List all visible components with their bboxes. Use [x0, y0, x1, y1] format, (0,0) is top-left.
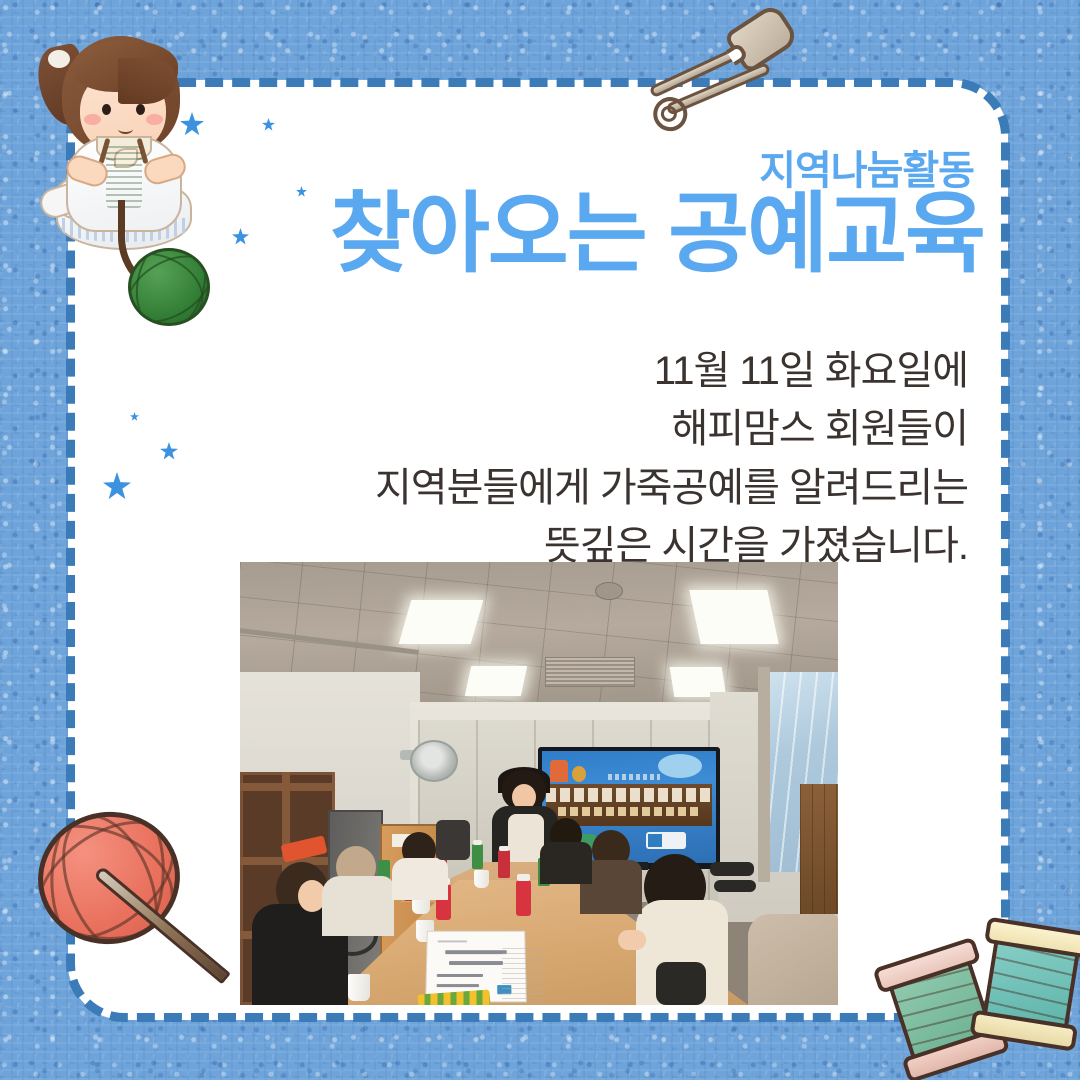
slide-small-text	[608, 774, 660, 780]
slide-subtitle-text	[558, 807, 700, 816]
ceiling-diffuser	[595, 582, 623, 600]
wood-panel-grain	[800, 784, 838, 914]
chair	[710, 862, 754, 876]
drink-bottle	[472, 844, 483, 869]
participant-body	[322, 876, 394, 936]
participant-body	[392, 858, 448, 900]
event-photo	[240, 562, 838, 1005]
ceiling-vent	[545, 657, 635, 687]
slide-character	[550, 760, 568, 782]
sign-text-line	[449, 961, 503, 965]
body-line-2: 해피맘스 회원들이	[0, 400, 968, 458]
chair	[714, 880, 756, 892]
body-line-3: 지역분들에게 가죽공예를 알려드리는	[0, 459, 968, 517]
bottle-cap	[473, 840, 482, 845]
participant-body	[540, 842, 592, 884]
chair	[436, 820, 470, 860]
sign-text-line	[445, 950, 507, 954]
ceiling-light	[399, 600, 484, 644]
sign-text-line	[437, 974, 483, 977]
mouth	[118, 124, 133, 134]
slide-character	[572, 766, 586, 782]
paper-cup	[348, 974, 370, 1001]
eye-left	[102, 104, 111, 115]
blush-left	[84, 114, 101, 125]
sign-text-line	[437, 984, 479, 987]
fabric-roll	[502, 944, 544, 1004]
slide-logo-mark	[648, 834, 662, 847]
thread-spool-icon	[969, 915, 1080, 1056]
slide-title-text	[546, 788, 712, 802]
hair-scrunchie	[48, 50, 70, 68]
blush-right	[146, 114, 163, 125]
eye-right	[136, 104, 145, 115]
drink-bottle	[516, 880, 531, 916]
poster-canvas: 지역나눔활동 찾아오는 공예교육 11월 11일 화요일에 해피맘스 회원들이 …	[0, 0, 1080, 1080]
poster-title: 찾아오는 공예교육	[0, 186, 1008, 283]
paper-cup	[474, 870, 489, 888]
poster-body-text: 11월 11일 화요일에 해피맘스 회원들이 지역분들에게 가죽공예를 알려드리…	[0, 342, 1008, 576]
participant-coat	[748, 914, 838, 1005]
window-frame	[758, 667, 770, 882]
slide-cloud-graphic	[658, 754, 702, 778]
drink-bottle	[498, 850, 510, 878]
wall-fan	[410, 740, 458, 782]
ceiling-light	[689, 590, 778, 644]
bottle-cap	[499, 846, 509, 851]
chair	[656, 962, 706, 1005]
sign-text-line	[437, 940, 467, 942]
ceiling-light	[465, 666, 527, 696]
sprinkler-head	[585, 610, 593, 618]
participant-hand	[618, 930, 646, 950]
body-line-1: 11월 11일 화요일에	[0, 342, 968, 400]
bottle-cap	[517, 874, 530, 881]
